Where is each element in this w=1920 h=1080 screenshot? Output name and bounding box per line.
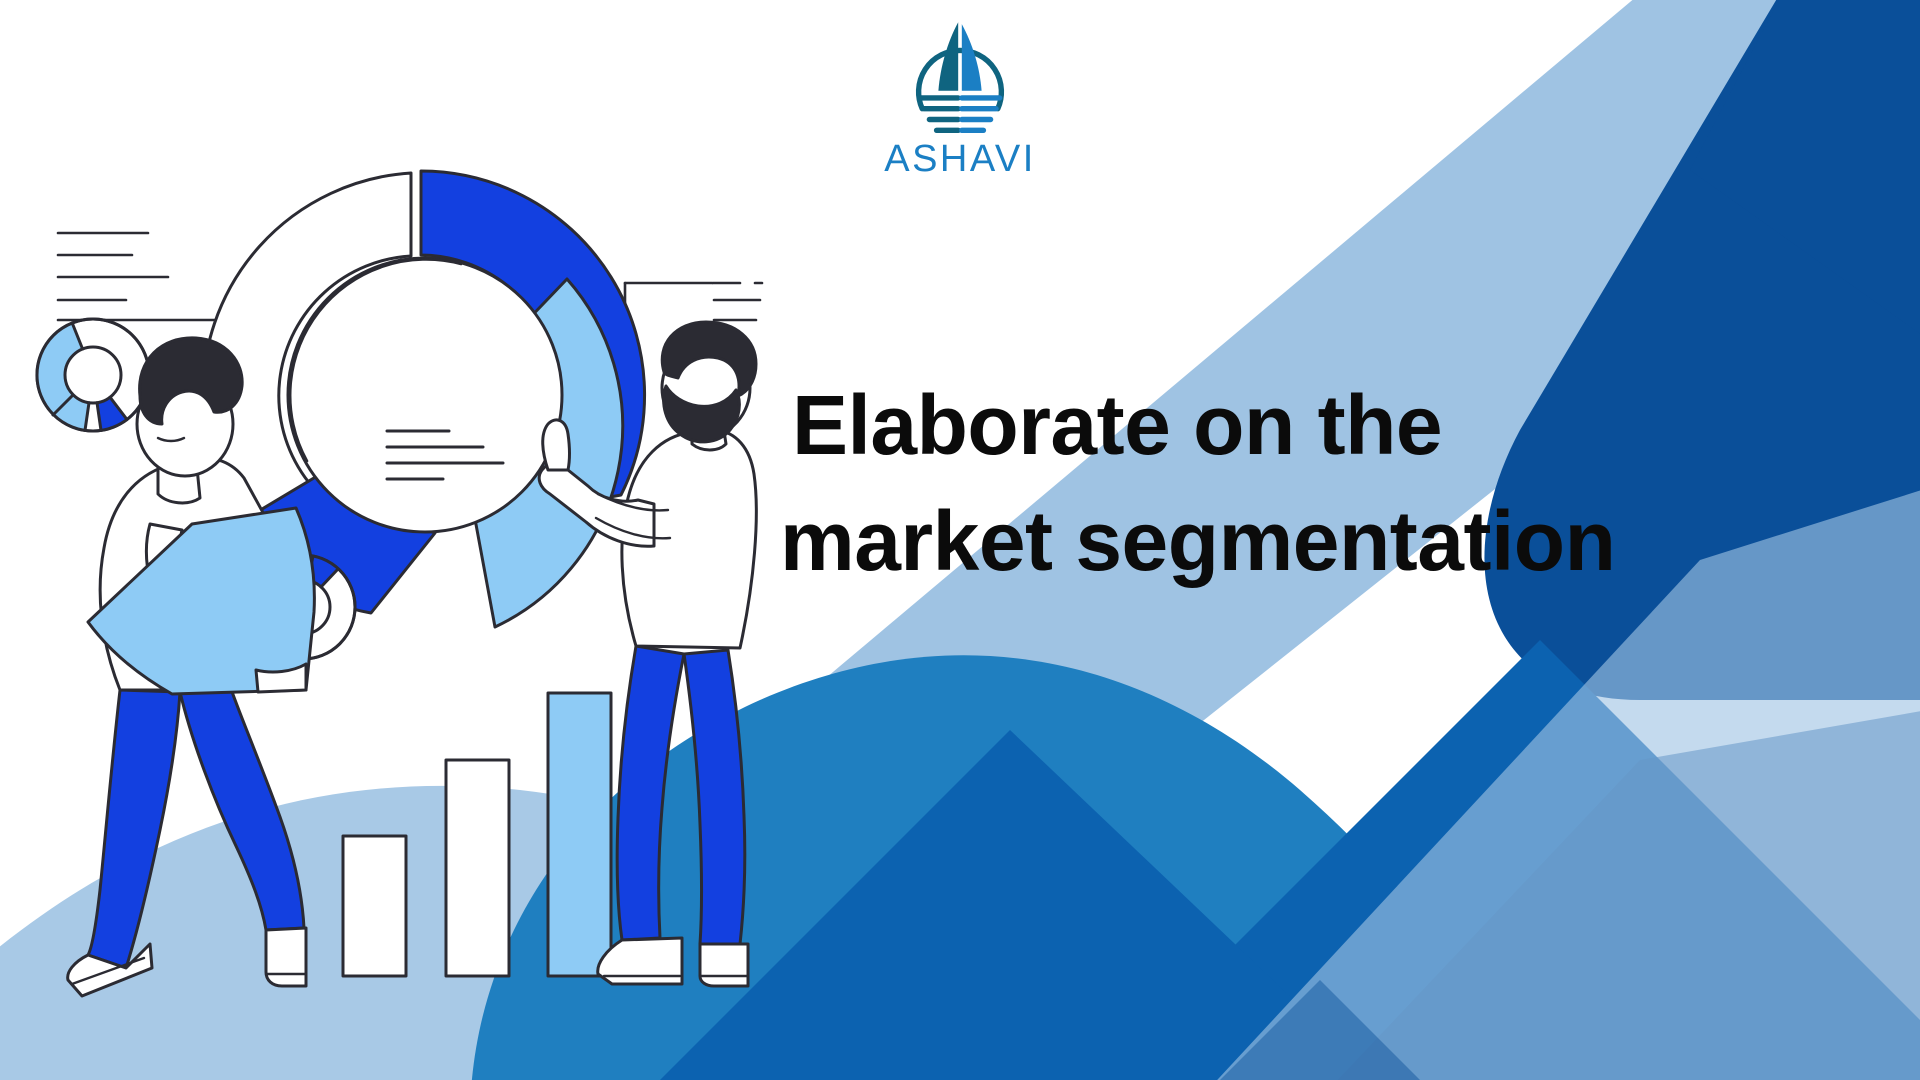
logo-waves (920, 98, 999, 130)
right-char-back-leg (617, 646, 684, 940)
headline-line-2: market segmentation (780, 484, 1890, 600)
bar-2 (446, 760, 509, 976)
left-char-front-leg (180, 686, 304, 930)
slide-canvas: ASHAVI Elaborate on the market segmentat… (0, 0, 1920, 1080)
bar-chart (343, 693, 611, 976)
page-title: Elaborate on the market segmentation (780, 368, 1890, 600)
right-char-front-shoe (700, 944, 748, 986)
sailboat-circle-logo-icon (906, 14, 1014, 144)
bar-1 (343, 836, 406, 976)
headline-line-1: Elaborate on the (780, 368, 1890, 484)
brand-logo-block: ASHAVI (0, 14, 1920, 178)
small-donut-left (36, 319, 149, 431)
right-char-front-leg (684, 650, 745, 944)
brand-wordmark: ASHAVI (884, 140, 1036, 178)
left-char-back-leg (88, 690, 180, 968)
left-char-front-shoe (266, 928, 306, 986)
right-char-finger (543, 420, 570, 470)
bar-3 (548, 693, 611, 976)
